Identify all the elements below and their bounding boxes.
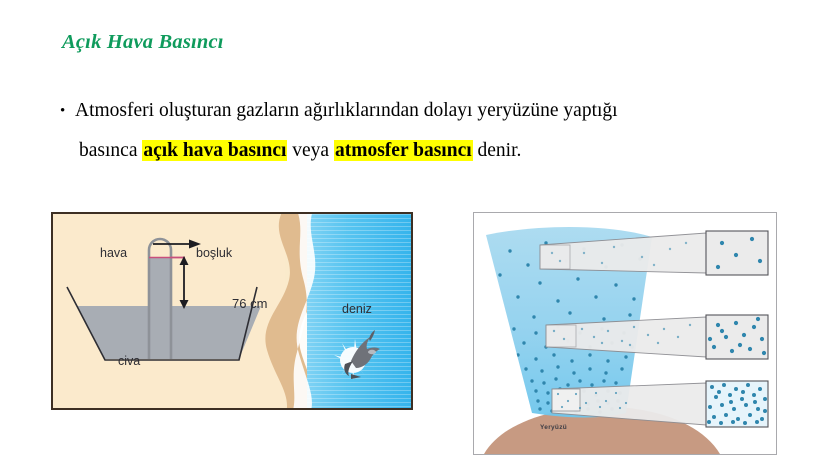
atmosphere-diagram [474, 213, 776, 454]
body-line-2-suffix: denir. [473, 140, 522, 161]
label-bosluk: boşluk [196, 246, 232, 260]
figure-atmosphere-density [473, 212, 777, 455]
label-yeryuzu: Yeryüzü [540, 424, 567, 431]
label-deniz: deniz [342, 302, 372, 316]
body-line-2-middle: veya [287, 140, 334, 161]
slide-canvas: Açık Hava Basıncı •Atmosferi oluşturan g… [0, 0, 828, 466]
bullet-paragraph: •Atmosferi oluşturan gazların ağırlıklar… [60, 96, 786, 165]
label-hava: hava [100, 246, 127, 260]
bullet-glyph-icon: • [60, 100, 75, 123]
highlight-acik-hava-basinci: açık hava basıncı [142, 140, 287, 161]
highlight-atmosfer-basinci: atmosfer basıncı [334, 140, 473, 161]
label-76-cm: 76 cm [232, 296, 267, 311]
body-text-block: •Atmosferi oluşturan gazların ağırlıklar… [60, 96, 786, 165]
body-line-1: Atmosferi oluşturan gazların ağırlıkları… [75, 100, 618, 121]
label-civa: civa [118, 354, 140, 368]
body-line-2: basınca açık hava basıncı veya atmosfer … [79, 136, 786, 166]
page-title: Açık Hava Basıncı [62, 31, 224, 54]
body-line-2-prefix: basınca [79, 140, 142, 161]
